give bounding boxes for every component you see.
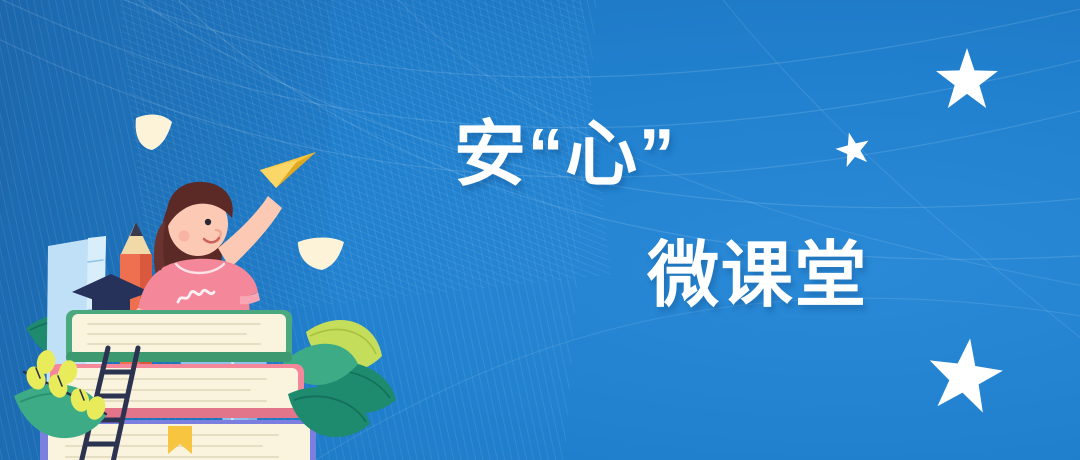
illustration-student-on-books xyxy=(10,96,410,460)
headline-line-2: 微课堂 xyxy=(440,239,960,314)
paper-plane xyxy=(260,152,316,188)
headline-line-1: 安“心” xyxy=(440,118,960,193)
course-banner: 安“心” 微课堂 xyxy=(0,0,1080,460)
paper-sheet-upper xyxy=(136,115,172,150)
paper-sheet-right xyxy=(298,238,344,271)
book-top xyxy=(66,310,292,362)
banner-headline: 安“心” 微课堂 xyxy=(440,118,960,314)
